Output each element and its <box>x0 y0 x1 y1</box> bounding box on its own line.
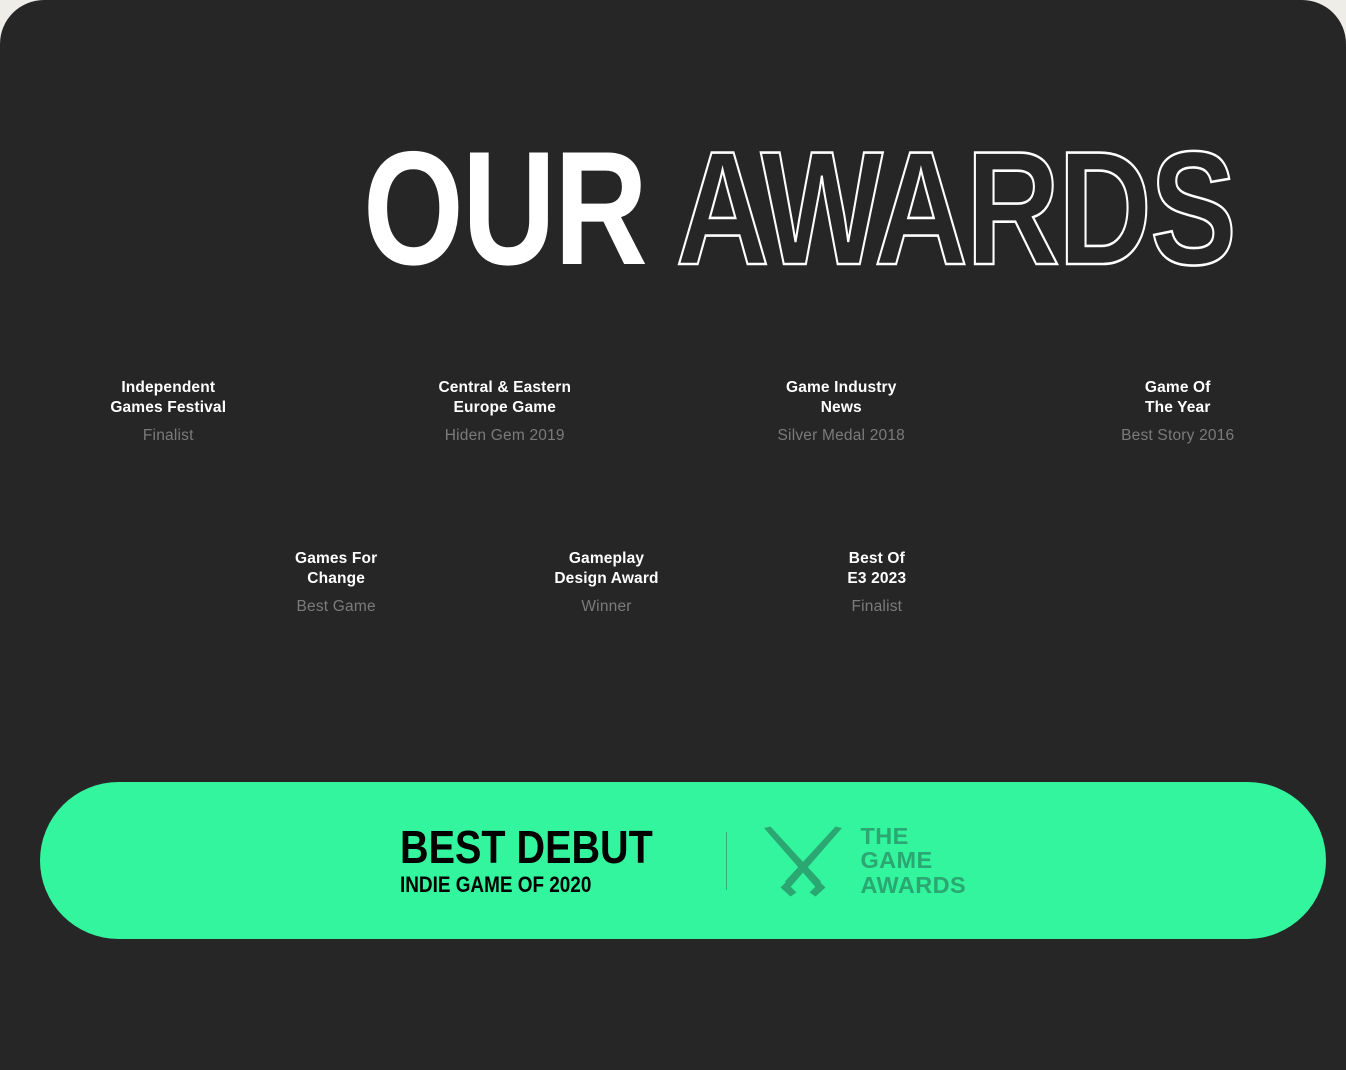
awards-row-secondary: Games For Change Best Game Gameplay Desi… <box>0 549 1346 617</box>
award-subtitle: Best Story 2016 <box>1010 426 1346 446</box>
award-subtitle: Finalist <box>742 597 1012 617</box>
page-title-word-awards: AWARDS <box>676 118 1235 299</box>
award-title: Game Industry News <box>673 378 1010 418</box>
award-title: Best Of E3 2023 <box>742 549 1012 589</box>
award-title: Central & Eastern Europe Game <box>337 378 674 418</box>
award-title: Independent Games Festival <box>0 378 337 418</box>
page-title-word-our: OUR <box>363 118 646 299</box>
featured-award-text-block: BEST DEBUT INDIE GAME OF 2020 <box>400 825 726 896</box>
award-subtitle: Hiden Gem 2019 <box>337 426 674 446</box>
awards-section-panel: OUR AWARDS Independent Games Festival Fi… <box>0 0 1346 1070</box>
award-subtitle: Silver Medal 2018 <box>673 426 1010 446</box>
featured-award-banner: BEST DEBUT INDIE GAME OF 2020 <box>40 782 1326 939</box>
awards-row-primary: Independent Games Festival Finalist Cent… <box>0 378 1346 446</box>
award-item: Best Of E3 2023 Finalist <box>742 549 1012 617</box>
award-item: Gameplay Design Award Winner <box>471 549 741 617</box>
award-subtitle: Best Game <box>201 597 471 617</box>
award-item: Game Of The Year Best Story 2016 <box>1010 378 1346 446</box>
award-title: Game Of The Year <box>1010 378 1346 418</box>
the-game-awards-crossed-swords-icon <box>760 825 846 897</box>
award-title: Games For Change <box>201 549 471 589</box>
award-item: Central & Eastern Europe Game Hiden Gem … <box>337 378 674 446</box>
award-subtitle: Finalist <box>0 426 337 446</box>
featured-award-subtitle: INDIE GAME OF 2020 <box>400 874 653 896</box>
the-game-awards-logo: THE GAME AWARDS <box>727 824 966 898</box>
award-item: Game Industry News Silver Medal 2018 <box>673 378 1010 446</box>
featured-award-banner-content: BEST DEBUT INDIE GAME OF 2020 <box>400 824 966 898</box>
page-title: OUR AWARDS <box>363 128 1235 290</box>
award-item: Games For Change Best Game <box>201 549 471 617</box>
award-item: Independent Games Festival Finalist <box>0 378 337 446</box>
featured-award-title: BEST DEBUT <box>400 825 653 869</box>
award-title: Gameplay Design Award <box>471 549 741 589</box>
banner-divider <box>726 832 728 890</box>
award-subtitle: Winner <box>471 597 741 617</box>
the-game-awards-wordmark: THE GAME AWARDS <box>846 824 966 898</box>
